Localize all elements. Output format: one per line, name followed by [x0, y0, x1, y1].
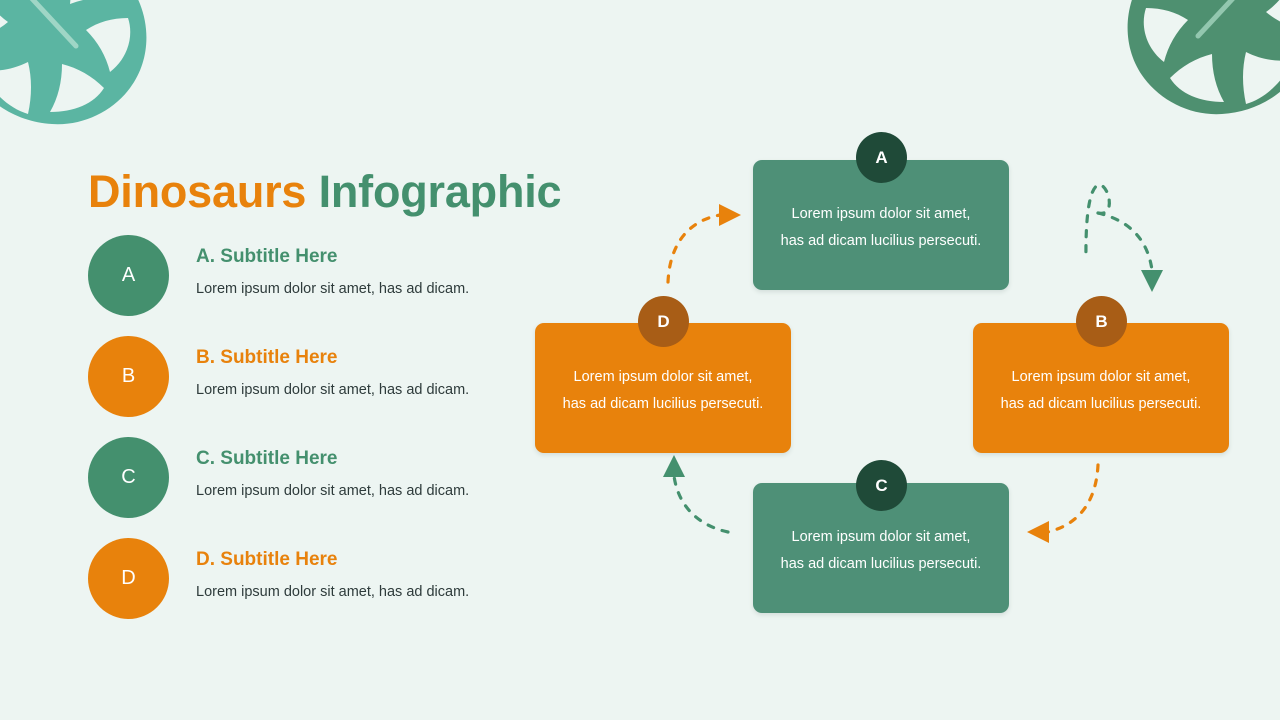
page-title: Dinosaurs Infographic [88, 164, 561, 220]
legend-subtitle-a: A. Subtitle Here [196, 245, 508, 269]
legend-item-d[interactable]: D D. Subtitle Here Lorem ipsum dolor sit… [88, 538, 508, 639]
legend-bullet-letter-b: B [122, 365, 135, 388]
page-title-primary: Dinosaurs [88, 166, 306, 217]
cycle-badge-letter-c: C [875, 476, 887, 496]
legend-subtitle-c: C. Subtitle Here [196, 447, 508, 471]
legend-subtitle-d: D. Subtitle Here [196, 548, 508, 572]
legend-bullet-letter-c: C [121, 466, 135, 489]
connector-c-to-d [663, 455, 728, 532]
cycle-badge-letter-a: A [875, 148, 887, 168]
cycle-badge-letter-d: D [657, 312, 669, 332]
cycle-badge-d: D [638, 296, 689, 347]
cycle-card-b-line2: has ad dicam lucilius persecuti. [1001, 391, 1202, 418]
legend-item-b[interactable]: B B. Subtitle Here Lorem ipsum dolor sit… [88, 336, 508, 437]
connector-b-to-c [1027, 465, 1098, 543]
cycle-card-a-line1: Lorem ipsum dolor sit amet, [792, 201, 971, 228]
legend-subtitle-b: B. Subtitle Here [196, 346, 508, 370]
legend-text-a: A. Subtitle Here Lorem ipsum dolor sit a… [196, 245, 508, 299]
cycle-diagram: Lorem ipsum dolor sit amet, has ad dicam… [520, 120, 1260, 630]
legend-bullet-a: A [88, 235, 169, 316]
legend-text-d: D. Subtitle Here Lorem ipsum dolor sit a… [196, 548, 508, 602]
legend-bullet-letter-d: D [121, 567, 135, 590]
legend-bullet-b: B [88, 336, 169, 417]
legend-bullet-letter-a: A [122, 264, 135, 287]
cycle-card-d-line2: has ad dicam lucilius persecuti. [563, 391, 764, 418]
cycle-card-c-line2: has ad dicam lucilius persecuti. [781, 551, 982, 578]
cycle-badge-c: C [856, 460, 907, 511]
legend-text-c: C. Subtitle Here Lorem ipsum dolor sit a… [196, 447, 508, 501]
legend-description-b: Lorem ipsum dolor sit amet, has ad dicam… [196, 380, 508, 400]
cycle-card-c-line1: Lorem ipsum dolor sit amet, [792, 524, 971, 551]
legend-description-c: Lorem ipsum dolor sit amet, has ad dicam… [196, 481, 508, 501]
legend-text-b: B. Subtitle Here Lorem ipsum dolor sit a… [196, 346, 508, 400]
legend-list: A A. Subtitle Here Lorem ipsum dolor sit… [88, 235, 508, 639]
leaf-decoration-top-right [1092, 0, 1280, 128]
cycle-badge-letter-b: B [1095, 312, 1107, 332]
legend-description-d: Lorem ipsum dolor sit amet, has ad dicam… [196, 582, 508, 602]
leaf-decoration-top-left [0, 0, 182, 138]
legend-bullet-c: C [88, 437, 169, 518]
connector-d-to-a [668, 204, 741, 282]
cycle-card-b-line1: Lorem ipsum dolor sit amet, [1012, 364, 1191, 391]
connector-a-to-b [1086, 185, 1163, 292]
cycle-card-d-line1: Lorem ipsum dolor sit amet, [574, 364, 753, 391]
legend-item-a[interactable]: A A. Subtitle Here Lorem ipsum dolor sit… [88, 235, 508, 336]
cycle-badge-b: B [1076, 296, 1127, 347]
legend-description-a: Lorem ipsum dolor sit amet, has ad dicam… [196, 279, 508, 299]
legend-bullet-d: D [88, 538, 169, 619]
legend-item-c[interactable]: C C. Subtitle Here Lorem ipsum dolor sit… [88, 437, 508, 538]
cycle-badge-a: A [856, 132, 907, 183]
slide-canvas: Dinosaurs Infographic A A. Subtitle Here… [0, 0, 1280, 720]
cycle-card-a-line2: has ad dicam lucilius persecuti. [781, 228, 982, 255]
